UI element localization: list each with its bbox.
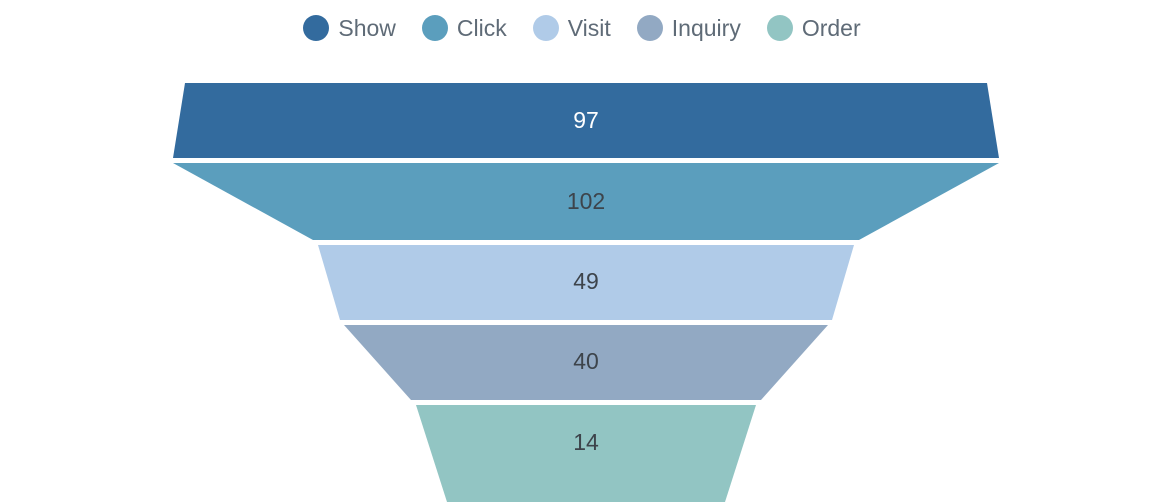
funnel-band-shape[interactable]	[173, 163, 999, 240]
funnel-band-shape[interactable]	[344, 325, 828, 400]
funnel-band-visit[interactable]: 49	[318, 245, 854, 320]
funnel-plot-area: 97102494014	[0, 0, 1164, 502]
funnel-band-show[interactable]: 97	[173, 83, 999, 158]
funnel-band-shape[interactable]	[173, 83, 999, 158]
funnel-chart: ShowClickVisitInquiryOrder 97102494014	[0, 0, 1164, 502]
funnel-band-shape[interactable]	[416, 405, 756, 502]
funnel-band-order[interactable]: 14	[416, 405, 756, 502]
funnel-band-inquiry[interactable]: 40	[344, 325, 828, 400]
funnel-band-shape[interactable]	[318, 245, 854, 320]
funnel-svg: 97102494014	[0, 0, 1164, 502]
funnel-band-click[interactable]: 102	[173, 163, 999, 240]
